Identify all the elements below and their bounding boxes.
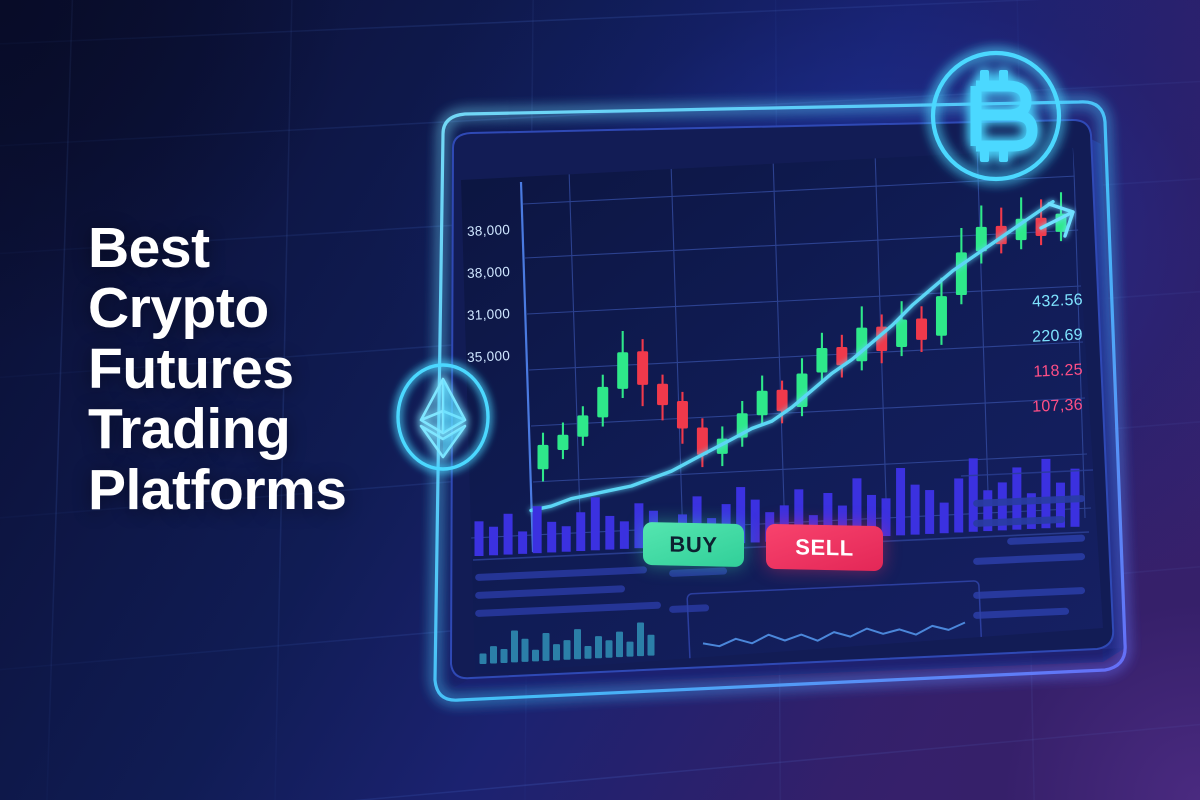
ethereum-icon	[390, 358, 496, 476]
mini-bar	[574, 629, 581, 659]
volume-bar	[576, 512, 585, 551]
volume-bar	[896, 468, 905, 535]
candle-body	[538, 445, 549, 469]
mini-bar	[585, 646, 592, 659]
buy-button[interactable]: BUY	[643, 522, 744, 567]
volume-bar	[882, 498, 891, 536]
mini-bar	[532, 650, 539, 662]
bitcoin-icon	[920, 40, 1072, 192]
volume-bar	[620, 521, 629, 549]
mini-bar	[490, 646, 497, 663]
volume-bar	[518, 531, 527, 553]
headline-line-2: Crypto	[88, 278, 448, 338]
mini-bar	[543, 633, 550, 661]
candle-body	[557, 435, 568, 450]
mini-bar	[616, 632, 623, 658]
volume-bar	[751, 500, 760, 543]
price-value-2: 118.25	[973, 362, 1084, 385]
candle-body	[916, 318, 927, 339]
volume-bar	[954, 478, 963, 532]
volume-bar	[940, 503, 949, 534]
axis-label-1: 38,000	[467, 262, 554, 281]
price-ticker-list: 432.56 220.69 118.25 107,36	[973, 294, 1083, 417]
candle-body	[637, 351, 648, 385]
headline-line-1: Best	[88, 218, 448, 278]
mini-bar	[564, 640, 571, 660]
mini-bar	[606, 640, 613, 657]
mini-bar	[522, 639, 529, 662]
mini-bar	[637, 622, 644, 656]
price-value-0: 432.56	[973, 292, 1084, 315]
price-value-1: 220.69	[973, 327, 1084, 350]
candle-body	[617, 352, 628, 389]
sell-button[interactable]: SELL	[766, 524, 883, 571]
candle-body	[956, 252, 967, 295]
volume-bar	[925, 490, 934, 534]
candle-body	[597, 387, 608, 418]
mini-bar	[648, 635, 655, 656]
price-value-3: 107,36	[973, 397, 1084, 420]
candle-body	[657, 384, 668, 405]
candle-body	[816, 348, 827, 372]
mini-bar	[480, 654, 487, 664]
axis-label-2: 31,000	[467, 304, 554, 323]
hero-banner: Best Crypto Futures Trading Platforms	[0, 0, 1200, 800]
trading-dashboard-tablet: 38,000 38,000 31,000 35,000 432.56 220.6…	[413, 108, 1133, 728]
mini-bar	[553, 644, 560, 660]
volume-bar	[562, 526, 571, 552]
volume-bar	[475, 521, 484, 556]
axis-label-0: 38,000	[467, 220, 554, 239]
candle-body	[936, 296, 947, 336]
candle-body	[577, 415, 588, 436]
mini-bar	[627, 642, 634, 657]
volume-bar	[547, 522, 556, 553]
buy-button-label: BUY	[669, 531, 717, 558]
candle-body	[896, 320, 907, 347]
volume-bar	[591, 497, 600, 550]
candle-body	[757, 391, 768, 415]
mini-bar	[595, 636, 602, 658]
mini-bar	[501, 649, 508, 663]
volume-bar	[504, 514, 513, 555]
volume-bar	[489, 527, 498, 556]
volume-bar	[533, 506, 542, 553]
candle-body	[677, 401, 688, 428]
mini-bar	[511, 631, 518, 663]
volume-bar	[605, 516, 614, 550]
sell-button-label: SELL	[795, 534, 854, 561]
price-axis-labels: 38,000 38,000 31,000 35,000	[467, 222, 553, 363]
candle-body	[777, 390, 788, 411]
volume-bar	[911, 485, 920, 535]
